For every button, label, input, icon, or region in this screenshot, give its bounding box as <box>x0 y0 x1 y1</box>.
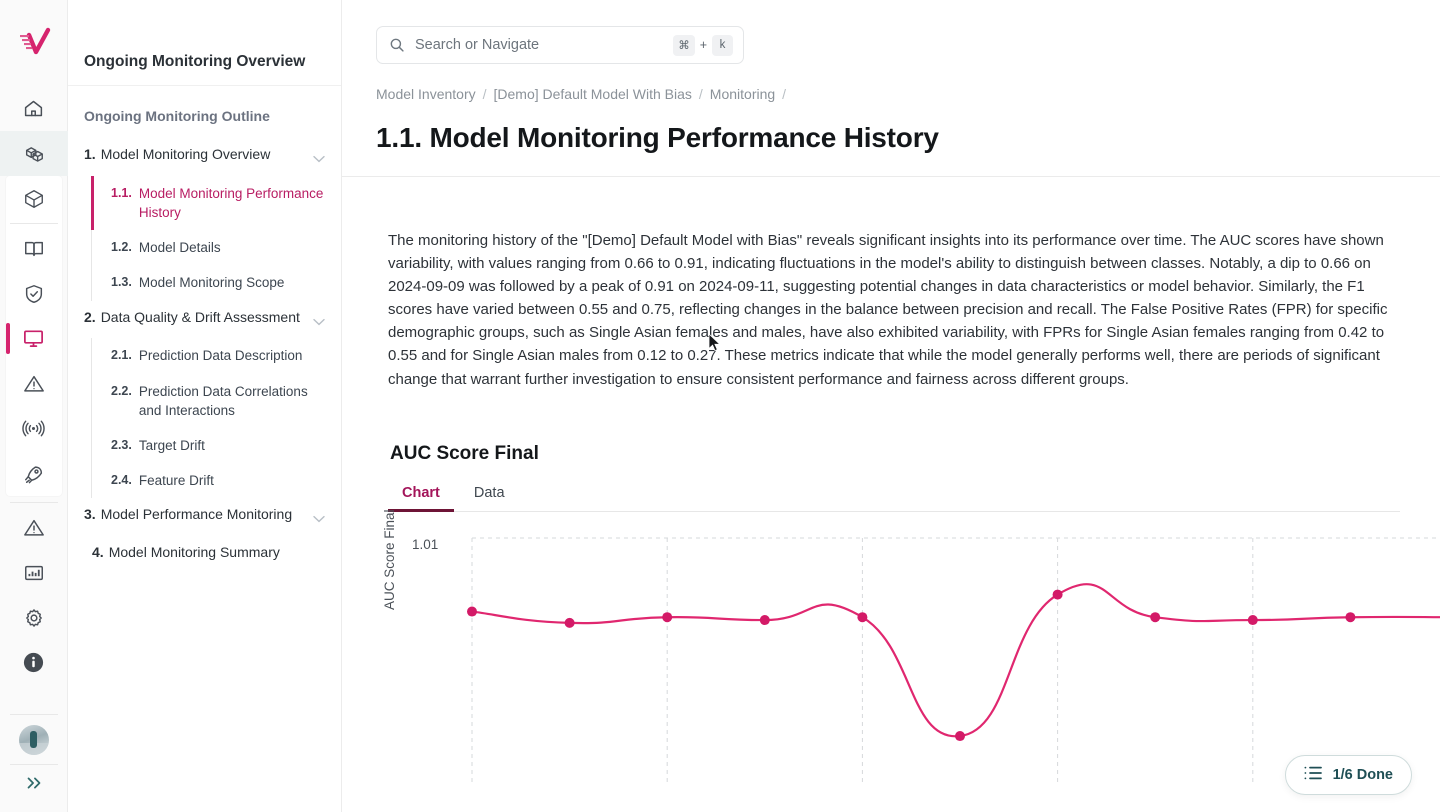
outline-item-label: Model Monitoring Scope <box>139 273 285 292</box>
avatar[interactable] <box>0 717 68 762</box>
chevron-down-icon[interactable] <box>313 505 325 529</box>
top-bar: Search or Navigate ⌘ + k <box>342 0 1440 86</box>
outline-item-number: 2.2. <box>111 382 132 401</box>
findings-warning-icon <box>23 373 45 395</box>
outline-item-label: Prediction Data Description <box>139 346 303 365</box>
breadcrumb-separator: / <box>699 86 703 102</box>
chevron-down-icon[interactable] <box>313 145 325 169</box>
outline-section-label: Model Performance Monitoring <box>101 505 307 525</box>
expand-chevrons-icon <box>23 772 45 794</box>
app-logo[interactable] <box>0 0 67 86</box>
sidebar-item-documentation[interactable] <box>0 226 68 271</box>
outline-section-label: Model Monitoring Overview <box>101 145 307 165</box>
rail-divider <box>10 764 58 765</box>
outline-section-number: 3. <box>84 505 96 525</box>
outline-section-4[interactable]: 4. Model Monitoring Summary <box>68 536 341 570</box>
outline-section-2-children: 2.1. Prediction Data Description 2.2. Pr… <box>91 338 341 498</box>
chart-y-axis-label: AUC Score Final <box>382 509 397 610</box>
sidebar-item-model-inventory[interactable] <box>0 131 68 176</box>
outline-item-label: Model Monitoring Performance History <box>139 184 325 222</box>
outline-item-number: 1.2. <box>111 238 132 257</box>
chart-y-tick-label: 1.01 <box>412 537 438 552</box>
chevron-down-icon[interactable] <box>313 308 325 332</box>
outline-section-2[interactable]: 2. Data Quality & Drift Assessment <box>68 301 341 339</box>
summary-paragraph: The monitoring history of the "[Demo] De… <box>388 229 1398 391</box>
signals-icon <box>22 417 45 440</box>
sidebar-item-2-4[interactable]: 2.4. Feature Drift <box>91 463 341 498</box>
sidebar-item-signals[interactable] <box>0 406 68 451</box>
breadcrumb-separator: / <box>782 86 786 102</box>
outline-section-number: 2. <box>84 308 96 328</box>
sidebar-item-model[interactable] <box>0 176 68 221</box>
sidebar-item-1-3[interactable]: 1.3. Model Monitoring Scope <box>91 265 341 300</box>
main-content: Search or Navigate ⌘ + k Model Inventory… <box>342 0 1440 812</box>
outline-section-number: 1. <box>84 145 96 165</box>
outline-section-1[interactable]: 1. Model Monitoring Overview <box>68 138 341 176</box>
search-input[interactable]: Search or Navigate ⌘ + k <box>376 26 744 64</box>
sidebar-item-2-1[interactable]: 2.1. Prediction Data Description <box>91 338 341 373</box>
cube-icon <box>23 188 45 210</box>
page-header: Model Inventory / [Demo] Default Model W… <box>342 86 1440 177</box>
outline-body: Ongoing Monitoring Outline 1. Model Moni… <box>68 86 341 570</box>
breadcrumb-item-2[interactable]: Monitoring <box>710 86 775 102</box>
outline-item-label: Target Drift <box>139 436 205 455</box>
sidebar-item-deployment[interactable] <box>0 451 68 496</box>
shortcut-plus: + <box>700 38 707 52</box>
validation-shield-icon <box>23 283 45 305</box>
info-icon <box>22 651 45 674</box>
analytics-bar-icon <box>23 562 45 584</box>
tab-chart[interactable]: Chart <box>388 481 454 511</box>
outline-item-label: Model Details <box>139 238 221 257</box>
sidebar-item-alerts[interactable] <box>0 505 68 550</box>
rail-section-panel <box>6 176 62 496</box>
rail-divider <box>10 223 58 224</box>
line-chart-svg <box>460 524 1440 786</box>
home-icon <box>23 98 44 119</box>
chart-plot-area[interactable] <box>460 524 1394 786</box>
expand-rail-button[interactable] <box>0 767 68 812</box>
outline-item-number: 2.1. <box>111 346 132 365</box>
sidebar-item-info[interactable] <box>0 640 68 685</box>
documentation-book-icon <box>23 238 45 260</box>
sidebar-item-settings[interactable] <box>0 595 68 640</box>
breadcrumb: Model Inventory / [Demo] Default Model W… <box>376 86 1440 102</box>
rocket-icon <box>23 463 45 485</box>
shortcut-key: k <box>712 35 733 56</box>
sidebar-item-1-1[interactable]: 1.1. Model Monitoring Performance Histor… <box>91 176 341 230</box>
validmind-check-logo-icon <box>17 26 51 60</box>
sidebar-item-validation[interactable] <box>0 271 68 316</box>
outline-section-number: 4. <box>92 543 104 563</box>
outline-item-number: 2.3. <box>111 436 132 455</box>
outline-section-3[interactable]: 3. Model Performance Monitoring <box>68 498 341 536</box>
chart-plot-wrapper: AUC Score Final 1.01 <box>388 524 1400 786</box>
chart-tabs: Chart Data <box>388 481 1400 512</box>
outline-item-number: 1.1. <box>111 184 132 203</box>
progress-done-label: 1/6 Done <box>1333 767 1393 783</box>
rail-divider <box>10 714 58 715</box>
sidebar-item-findings[interactable] <box>0 361 68 406</box>
avatar-image <box>19 725 49 755</box>
outline-title: Ongoing Monitoring Overview <box>68 0 341 86</box>
rail-divider <box>10 502 58 503</box>
outline-section-label: Model Monitoring Summary <box>109 543 325 563</box>
chart-panel: AUC Score Final Chart Data AUC Score Fin… <box>388 443 1400 786</box>
outline-section-1-children: 1.1. Model Monitoring Performance Histor… <box>91 176 341 301</box>
search-placeholder: Search or Navigate <box>415 37 673 53</box>
sidebar-item-home[interactable] <box>0 86 68 131</box>
chart-title: AUC Score Final <box>390 443 1400 465</box>
search-icon <box>389 37 405 53</box>
left-icon-rail <box>0 0 68 812</box>
sidebar-item-2-2[interactable]: 2.2. Prediction Data Correlations and In… <box>91 374 341 428</box>
sidebar-item-1-2[interactable]: 1.2. Model Details <box>91 230 341 265</box>
outline-sidebar: Ongoing Monitoring Overview Ongoing Moni… <box>68 0 342 812</box>
outline-item-number: 2.4. <box>111 471 132 490</box>
outline-item-label: Feature Drift <box>139 471 214 490</box>
list-icon <box>1304 766 1322 784</box>
outline-section-label: Data Quality & Drift Assessment <box>101 308 307 328</box>
monitoring-screen-icon <box>22 327 45 350</box>
sidebar-item-analytics[interactable] <box>0 550 68 595</box>
tab-data[interactable]: Data <box>460 481 519 511</box>
page-title: 1.1. Model Monitoring Performance Histor… <box>376 122 1440 154</box>
breadcrumb-item-0[interactable]: Model Inventory <box>376 86 476 102</box>
breadcrumb-separator: / <box>483 86 487 102</box>
content-area: The monitoring history of the "[Demo] De… <box>342 229 1440 786</box>
model-inventory-icon <box>23 143 45 165</box>
app-root: Ongoing Monitoring Overview Ongoing Moni… <box>0 0 1440 812</box>
alerts-warning-icon <box>23 517 45 539</box>
mouse-cursor <box>708 333 721 352</box>
shortcut-modifier-key: ⌘ <box>673 35 695 56</box>
settings-gear-icon <box>23 607 45 629</box>
sidebar-item-ongoing-monitoring[interactable] <box>0 316 68 361</box>
sidebar-item-2-3[interactable]: 2.3. Target Drift <box>91 428 341 463</box>
outline-item-label: Prediction Data Correlations and Interac… <box>139 382 325 420</box>
outline-item-number: 1.3. <box>111 273 132 292</box>
breadcrumb-item-1[interactable]: [Demo] Default Model With Bias <box>494 86 692 102</box>
progress-done-pill[interactable]: 1/6 Done <box>1285 755 1412 795</box>
outline-subtitle: Ongoing Monitoring Outline <box>68 108 341 138</box>
